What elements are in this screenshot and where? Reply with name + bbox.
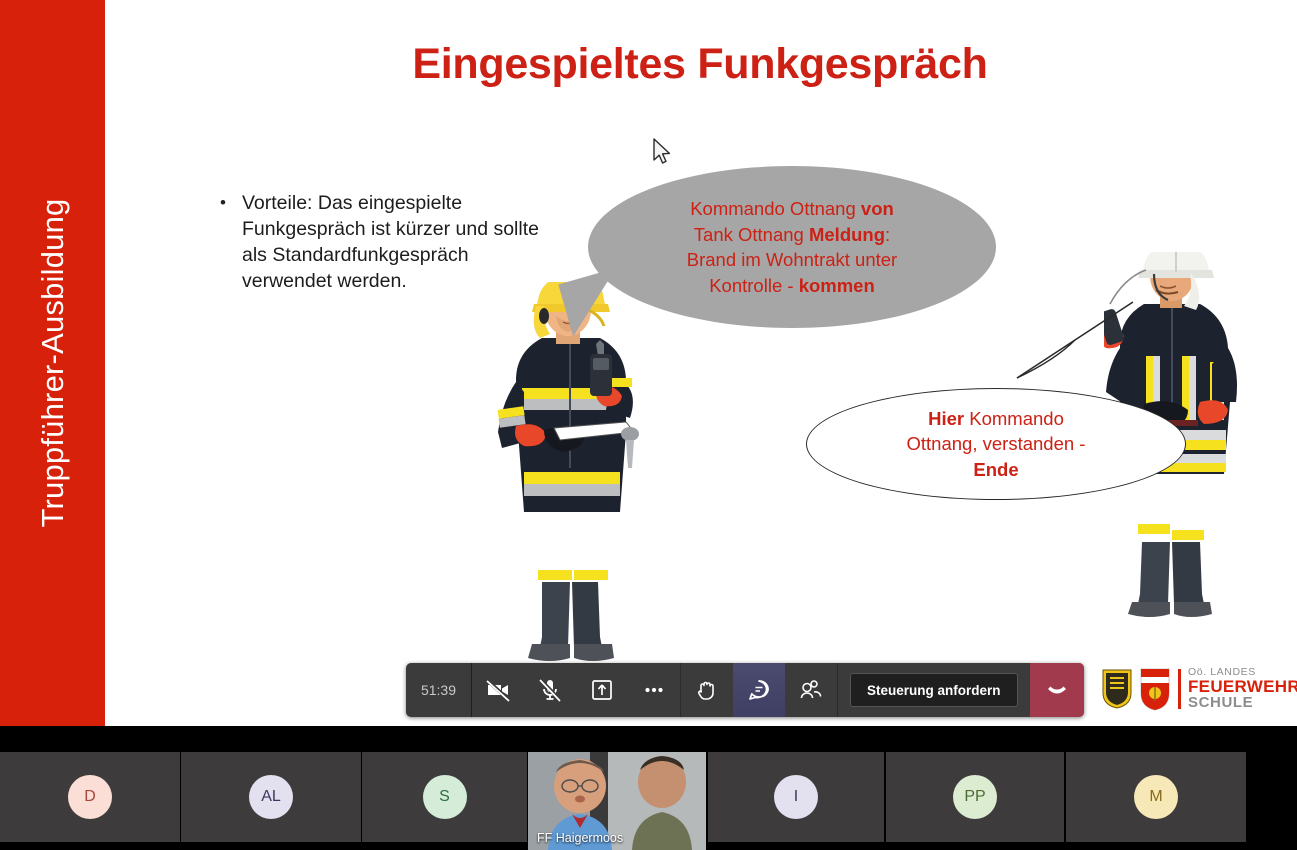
participant-tile[interactable]: M — [1066, 752, 1246, 842]
logo-line-2: FEUERWEHR — [1188, 678, 1297, 696]
sidebar-course-label: Truppführer-Ausbildung — [35, 199, 71, 528]
hangup-button[interactable] — [1030, 663, 1084, 717]
shield-icon — [1139, 667, 1171, 711]
avatar: PP — [953, 775, 997, 819]
list-item: • Vorteile: Das eingespielte Funkgespräc… — [220, 190, 540, 294]
presentation-slide: Truppführer-Ausbildung Eingespieltes Fun… — [0, 0, 1297, 726]
feuerwehrschule-logo: Oö. LANDES FEUERWEHR SCHULE — [1102, 660, 1272, 718]
request-control-button[interactable]: Steuerung anfordern — [850, 673, 1018, 707]
bullet-item-text: Vorteile: Das eingespielte Funkgespräch … — [242, 190, 540, 294]
avatar: I — [774, 775, 818, 819]
participant-tile[interactable]: I — [708, 752, 884, 842]
logo-line-3: SCHULE — [1188, 695, 1297, 710]
participant-tile[interactable]: AL — [181, 752, 361, 842]
request-control-container: Steuerung anfordern — [838, 663, 1030, 717]
hangup-icon — [1044, 677, 1070, 703]
participants-button[interactable] — [785, 663, 837, 717]
share-screen-button[interactable] — [576, 663, 628, 717]
more-options-icon — [641, 677, 667, 703]
speech-bubble-gray: Kommando Ottnang von Tank Ottnang Meldun… — [588, 166, 996, 328]
chat-icon — [746, 677, 772, 703]
camera-toggle-button[interactable] — [472, 663, 524, 717]
avatar: S — [423, 775, 467, 819]
meeting-toolbar: 51:39 — [406, 663, 1084, 717]
share-screen-icon — [589, 677, 615, 703]
participant-tile[interactable]: PP — [886, 752, 1064, 842]
mouse-pointer-icon — [652, 138, 672, 168]
separator-band — [0, 726, 1297, 752]
speech-bubble-white: Hier Kommando Ottnang, verstanden - Ende — [806, 388, 1186, 500]
meeting-timer: 51:39 — [406, 663, 472, 717]
speech-bubble-gray-text: Kommando Ottnang von Tank Ottnang Meldun… — [687, 196, 897, 298]
microphone-off-icon — [537, 677, 563, 703]
more-options-button[interactable] — [628, 663, 680, 717]
participants-icon — [798, 677, 824, 703]
logo-divider — [1178, 669, 1181, 709]
chat-button[interactable] — [733, 663, 785, 717]
screen: Truppführer-Ausbildung Eingespieltes Fun… — [0, 0, 1297, 850]
raise-hand-icon — [694, 677, 720, 703]
avatar: D — [68, 775, 112, 819]
slide-bullet-list: • Vorteile: Das eingespielte Funkgespräc… — [220, 190, 540, 294]
firefighter-left-illustration — [480, 282, 660, 662]
slide-title: Eingespieltes Funkgespräch — [130, 40, 1270, 89]
participant-tile[interactable]: S — [362, 752, 527, 842]
logo-text: Oö. LANDES FEUERWEHR SCHULE — [1188, 667, 1297, 711]
speech-bubble-white-text: Hier Kommando Ottnang, verstanden - Ende — [907, 406, 1086, 483]
avatar: AL — [249, 775, 293, 819]
participant-name-label: FF Haigermoos — [537, 831, 623, 845]
slide-sidebar: Truppführer-Ausbildung — [0, 0, 105, 726]
raise-hand-button[interactable] — [681, 663, 733, 717]
participant-video-tile[interactable]: FF Haigermoos — [528, 752, 706, 850]
coat-of-arms-icon — [1102, 669, 1132, 709]
camera-off-icon — [485, 677, 511, 703]
microphone-toggle-button[interactable] — [524, 663, 576, 717]
speech-bubble-white-tail — [1015, 300, 1135, 380]
bullet-marker-icon: • — [220, 190, 242, 294]
participant-tile[interactable]: D — [0, 752, 180, 842]
avatar: M — [1134, 775, 1178, 819]
